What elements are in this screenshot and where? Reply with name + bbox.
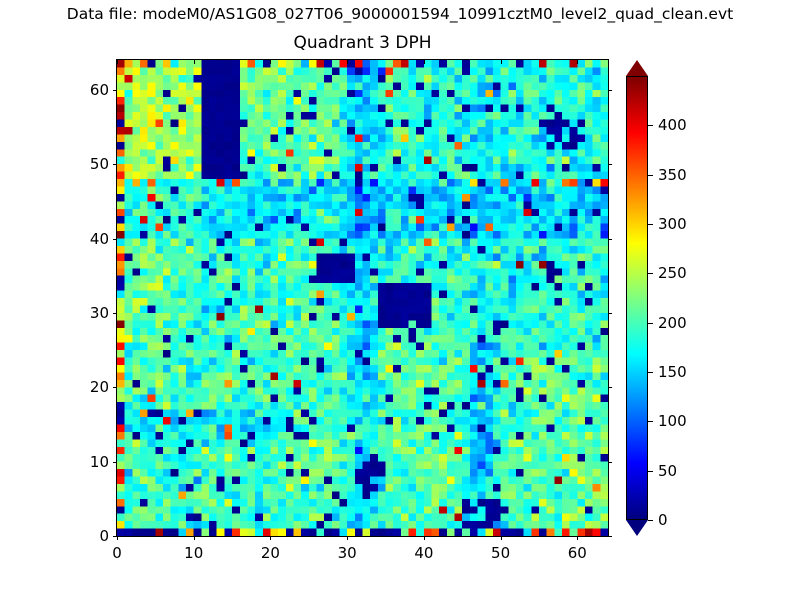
x-tick-mark: [501, 536, 502, 540]
colorbar-tick-label: 150: [658, 363, 687, 381]
colorbar-tick-label: 400: [658, 116, 687, 134]
y-tick-mark: [113, 536, 117, 537]
y-tick-mark: [113, 313, 117, 314]
x-tick-mark-top: [424, 60, 425, 64]
colorbar-tick-label: 100: [658, 412, 687, 430]
x-tick-label: 20: [261, 544, 280, 562]
colorbar-tick-mark: [648, 175, 653, 176]
x-tick-mark: [347, 536, 348, 540]
x-tick-mark-top: [347, 60, 348, 64]
y-tick-mark-right: [608, 239, 612, 240]
y-tick-mark: [113, 164, 117, 165]
colorbar-tick-mark: [648, 125, 653, 126]
x-tick-mark-top: [501, 60, 502, 64]
colorbar-bar: [626, 76, 648, 520]
y-tick-label: 40: [71, 230, 109, 248]
colorbar-tick-mark: [648, 273, 653, 274]
colorbar-extend-min-arrow-icon: [626, 520, 648, 536]
x-tick-mark: [270, 536, 271, 540]
colorbar-tick-label: 350: [658, 166, 687, 184]
colorbar-tick-label: 0: [658, 511, 668, 529]
colorbar-tick-mark: [648, 224, 653, 225]
y-tick-label: 30: [71, 304, 109, 322]
y-tick-mark: [113, 90, 117, 91]
x-tick-mark-top: [194, 60, 195, 64]
colorbar-tick-label: 250: [658, 264, 687, 282]
y-tick-mark-right: [608, 90, 612, 91]
y-tick-label: 50: [71, 155, 109, 173]
colorbar-tick-label: 50: [658, 462, 677, 480]
x-tick-mark: [194, 536, 195, 540]
y-tick-label: 20: [71, 378, 109, 396]
x-tick-label: 10: [184, 544, 203, 562]
x-tick-label: 0: [112, 544, 122, 562]
figure-suptitle: Data file: modeM0/AS1G08_027T06_90000015…: [0, 5, 800, 23]
heatmap-image: [117, 60, 608, 536]
colorbar-tick-label: 200: [658, 314, 687, 332]
axes-title: Quadrant 3 DPH: [117, 33, 608, 53]
colorbar-extend-max-arrow-icon: [626, 60, 648, 76]
colorbar-tick-mark: [648, 520, 653, 521]
x-tick-mark-top: [117, 60, 118, 64]
y-tick-label: 0: [71, 527, 109, 545]
colorbar-tick-mark: [648, 471, 653, 472]
y-tick-label: 60: [71, 81, 109, 99]
y-tick-mark-right: [608, 313, 612, 314]
heatmap-axes: [116, 59, 609, 537]
y-tick-mark-right: [608, 164, 612, 165]
y-tick-mark: [113, 387, 117, 388]
y-tick-mark-right: [608, 387, 612, 388]
x-tick-mark: [424, 536, 425, 540]
colorbar-tick-mark: [648, 421, 653, 422]
x-tick-label: 50: [491, 544, 510, 562]
colorbar-tick-mark: [648, 323, 653, 324]
y-tick-label: 10: [71, 453, 109, 471]
x-tick-label: 40: [414, 544, 433, 562]
colorbar-tick-label: 300: [658, 215, 687, 233]
colorbar: 050100150200250300350400: [626, 60, 648, 536]
y-tick-mark: [113, 239, 117, 240]
x-tick-mark-top: [270, 60, 271, 64]
y-tick-mark: [113, 462, 117, 463]
x-tick-mark: [577, 536, 578, 540]
x-tick-label: 60: [568, 544, 587, 562]
colorbar-gradient: [627, 77, 647, 519]
y-tick-mark-right: [608, 536, 612, 537]
matplotlib-figure: Data file: modeM0/AS1G08_027T06_90000015…: [0, 0, 800, 600]
x-tick-mark-top: [577, 60, 578, 64]
y-tick-mark-right: [608, 462, 612, 463]
x-tick-label: 30: [338, 544, 357, 562]
x-tick-mark: [117, 536, 118, 540]
colorbar-tick-mark: [648, 372, 653, 373]
